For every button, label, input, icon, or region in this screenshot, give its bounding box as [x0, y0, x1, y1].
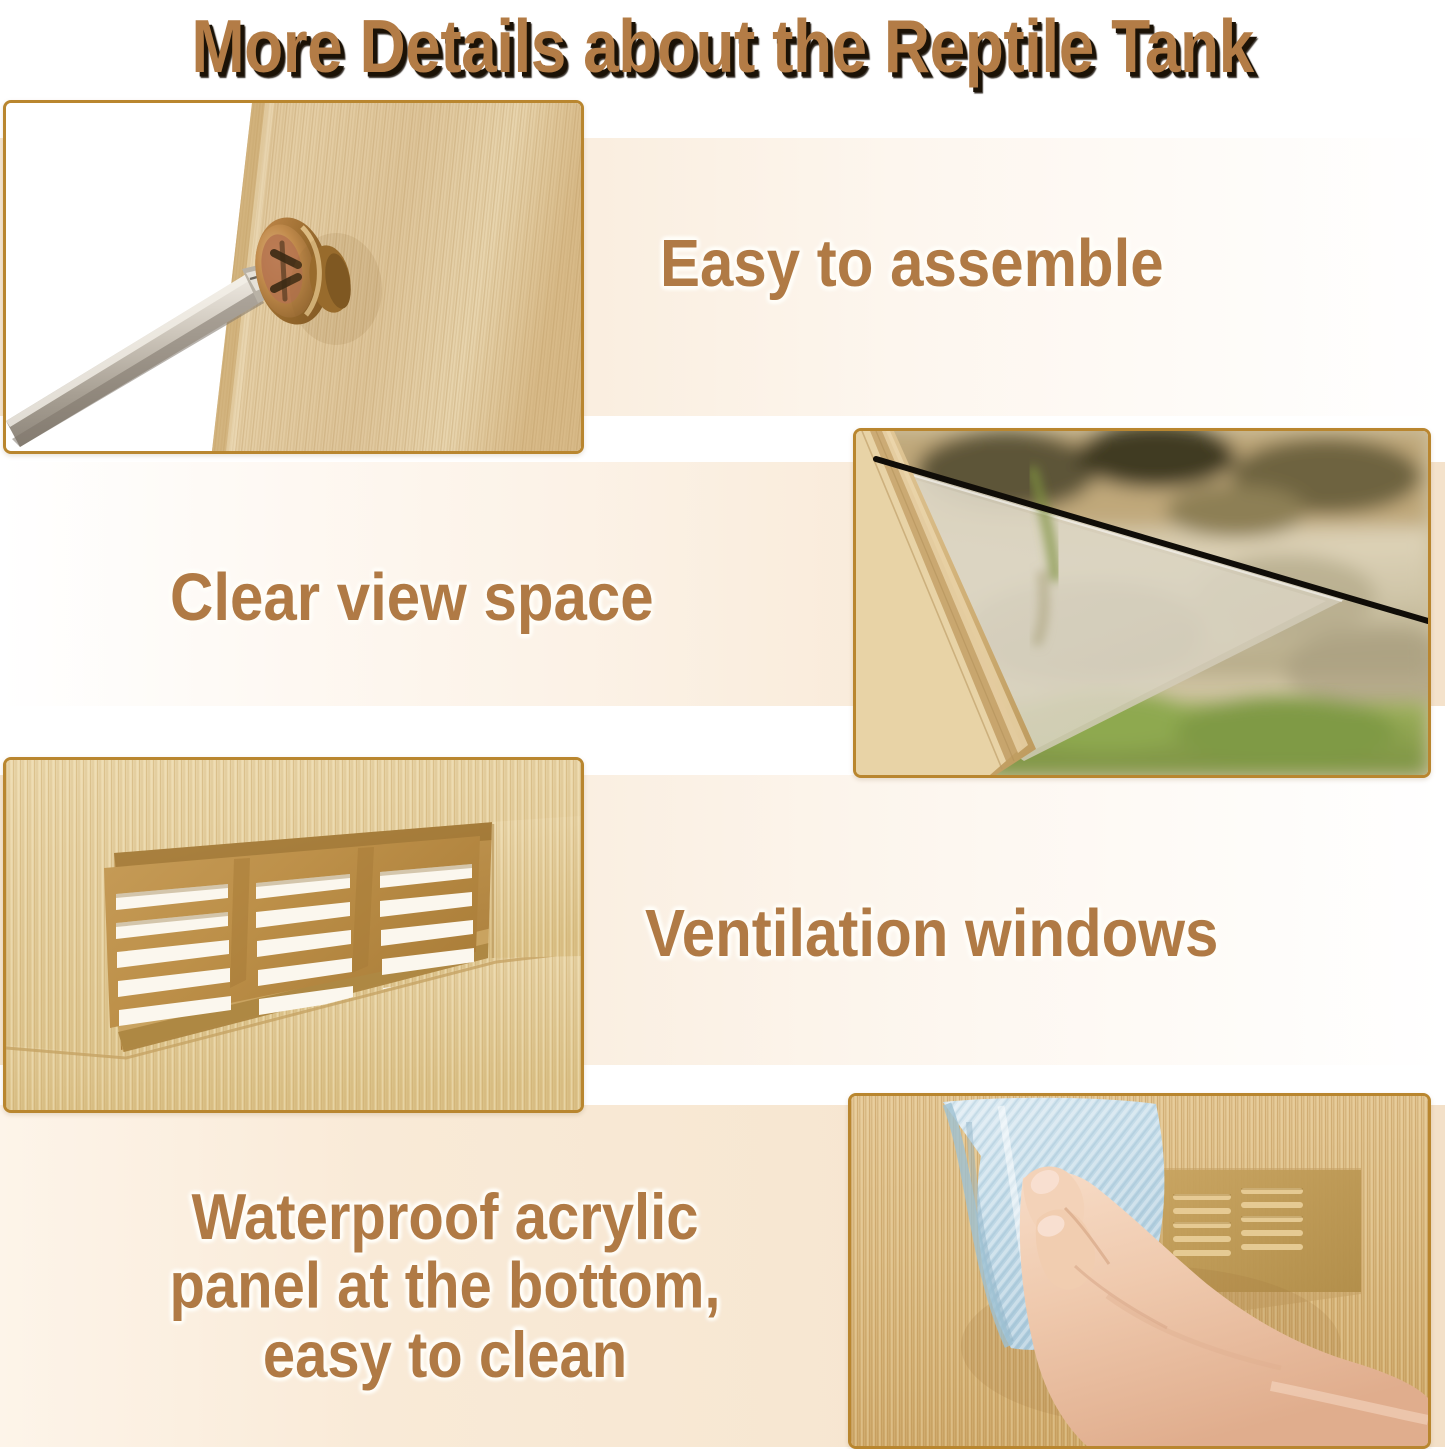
clear-acrylic-viewing-panel-photo: [856, 431, 1428, 775]
caption-line-3: easy to clean: [95, 1321, 795, 1390]
feature-caption-easy-to-assemble: Easy to assemble: [660, 228, 1164, 299]
wooden-ventilation-window-photo: [6, 760, 581, 1110]
feature-caption-waterproof-acrylic: Waterproof acrylic panel at the bottom, …: [95, 1183, 795, 1390]
caption-line-2: panel at the bottom,: [95, 1252, 795, 1321]
page-title-banner: More Details about the Reptile Tank: [0, 0, 1445, 92]
feature-image-waterproof-easy-to-clean: [848, 1093, 1431, 1449]
page-title: More Details about the Reptile Tank: [191, 2, 1253, 89]
feature-image-ventilation-windows: [3, 757, 584, 1113]
feature-caption-clear-view-space: Clear view space: [170, 562, 654, 633]
caption-line-1: Waterproof acrylic: [95, 1183, 795, 1252]
feature-image-easy-to-assemble: [3, 100, 584, 454]
screwdriver-driving-screw-into-wood-photo: [6, 103, 581, 451]
hand-wiping-panel-with-cloth-photo: [851, 1096, 1428, 1446]
feature-caption-ventilation-windows: Ventilation windows: [645, 898, 1218, 969]
feature-image-clear-view-space: [853, 428, 1431, 778]
